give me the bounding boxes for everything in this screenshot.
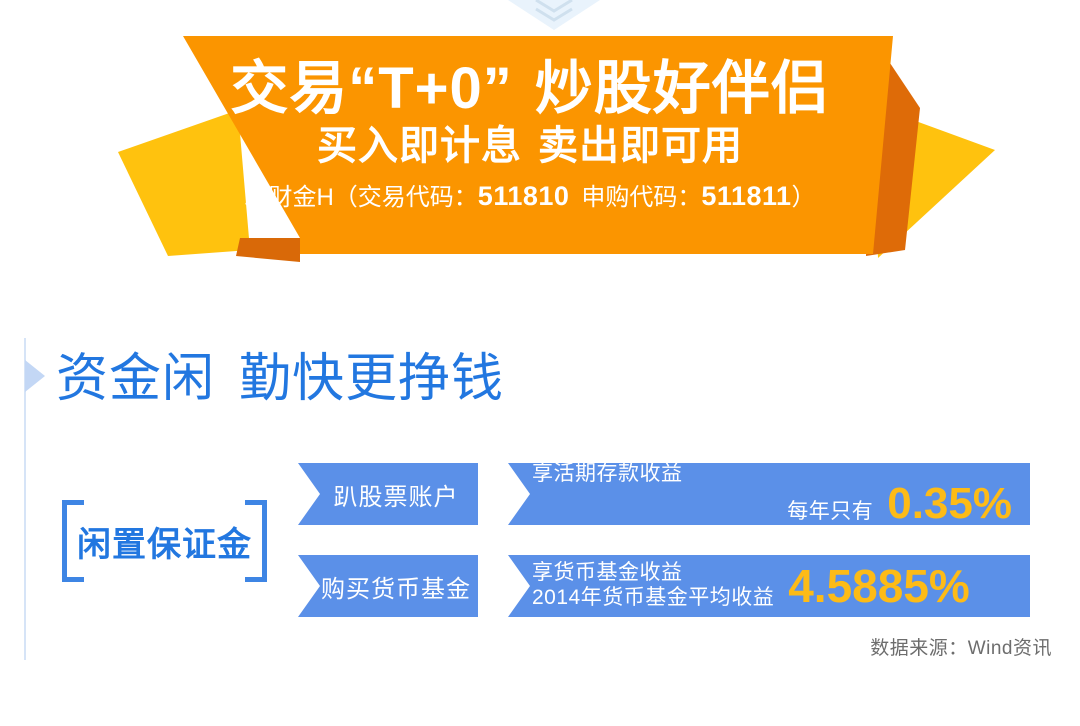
benefit-line2-0: 每年只有 (787, 495, 873, 525)
fund-code-mid: 申购代码： (581, 184, 701, 211)
benefit-value-0: 0.35% (887, 482, 1012, 526)
bracket-label-text: 闲置保证金 (62, 500, 267, 582)
top-chevron-decoration (508, 0, 600, 30)
trade-code-value: 511810 (478, 181, 570, 211)
bracket-label: 闲置保证金 (62, 500, 267, 582)
right-triangle-icon (25, 360, 45, 392)
banner-headline-part2: 炒股好伴侣 (535, 56, 830, 121)
banner-headline-part1: 交易“T+0” (230, 56, 513, 121)
option-chip-label-1: 购买货币基金 (305, 569, 471, 604)
ribbon-right-tail (872, 105, 995, 258)
banner-text-block: 交易“T+0”炒股好伴侣 买入即计息卖出即可用 理财金H（交易代码：511810… (180, 30, 880, 255)
option-chip-1[interactable]: 购买货币基金 (298, 555, 478, 617)
banner-subheadline-part2: 卖出即可用 (538, 124, 743, 168)
benefit-line1-1: 享货币基金收益 (532, 561, 774, 586)
fund-code-prefix: 理财金H（交易代码： (244, 184, 477, 211)
option-chip-label-0: 趴股票账户 (318, 477, 459, 512)
benefit-panel-0[interactable]: 享活期存款收益 每年只有 0.35% (508, 463, 1030, 525)
benefit-line2-1: 2014年货币基金平均收益 (532, 586, 774, 611)
benefit-panel-1[interactable]: 享货币基金收益 2014年货币基金平均收益 4.5885% (508, 555, 1030, 617)
benefit-value-1: 4.5885% (788, 563, 970, 609)
banner-headline: 交易“T+0”炒股好伴侣 (180, 57, 880, 121)
purchase-code-value: 511811 (701, 181, 791, 211)
banner-fund-codes: 理财金H（交易代码：511810申购代码：511811） (180, 177, 880, 212)
section-heading-part1: 资金闲 (56, 350, 215, 408)
option-chip-0[interactable]: 趴股票账户 (298, 463, 478, 525)
banner-subheadline-part1: 买入即计息 (317, 124, 522, 168)
section-heading-part2: 勤快更挣钱 (239, 350, 504, 408)
data-source-note: 数据来源：Wind资讯 (870, 633, 1052, 660)
fund-code-suffix: ） (792, 184, 816, 211)
page-title: 资金闲勤快更挣钱 (56, 336, 504, 411)
poster-canvas: 交易“T+0”炒股好伴侣 买入即计息卖出即可用 理财金H（交易代码：511810… (0, 0, 1080, 726)
banner-subheadline: 买入即计息卖出即可用 (180, 123, 880, 169)
